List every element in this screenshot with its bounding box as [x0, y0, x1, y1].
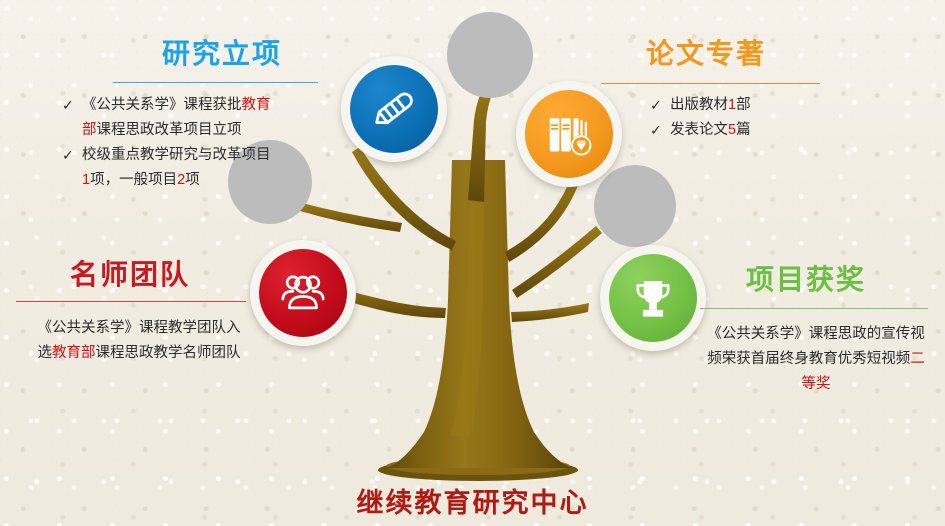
- section-rule-master-teacher-team: [16, 301, 246, 302]
- list-item: ✓ 发表论文5篇: [650, 118, 880, 143]
- paragraph-text: 《公共关系学》课程思政的宣传视频荣获首届终身教育优秀短视频二等奖: [707, 326, 925, 392]
- check-icon: ✓: [650, 118, 670, 143]
- list-item-text: 《公共关系学》课程获批教育部课程思政改革项目立项: [82, 93, 274, 143]
- section-body-master-teacher-team: 《公共关系学》课程教学团队入选教育部课程思政教学名师团队: [36, 316, 242, 366]
- section-body-papers-monographs: ✓ 出版教材1部 ✓ 发表论文5篇: [650, 93, 880, 143]
- section-body-project-awards: 《公共关系学》课程思政的宣传视频荣获首届终身教育优秀短视频二等奖: [705, 322, 927, 397]
- paragraph-text: 《公共关系学》课程教学团队入选教育部课程思政教学名师团队: [38, 320, 241, 361]
- section-rule-papers-monographs: [601, 83, 820, 84]
- section-rule-project-awards: [700, 308, 928, 309]
- page-title: 继续教育研究中心: [0, 481, 945, 520]
- list-item: ✓ 出版教材1部: [650, 93, 880, 118]
- check-icon: ✓: [62, 93, 82, 118]
- list-item-text: 校级重点教学研究与改革项目1项，一般项目2项: [82, 143, 274, 193]
- section-title-master-teacher-team: 名师团队: [70, 253, 190, 293]
- section-title-research-projects: 研究立项: [162, 32, 282, 72]
- check-icon: ✓: [650, 93, 670, 118]
- section-rule-research-projects: [113, 82, 318, 83]
- section-body-research-projects: ✓ 《公共关系学》课程获批教育部课程思政改革项目立项 ✓ 校级重点教学研究与改革…: [62, 93, 274, 193]
- check-icon: ✓: [62, 143, 82, 168]
- list-item-text: 出版教材1部: [670, 93, 880, 118]
- list-item-text: 发表论文5篇: [670, 118, 880, 143]
- list-item: ✓ 《公共关系学》课程获批教育部课程思政改革项目立项: [62, 93, 274, 143]
- content-layer: 研究立项 ✓ 《公共关系学》课程获批教育部课程思政改革项目立项 ✓ 校级重点教学…: [0, 0, 945, 526]
- list-item: ✓ 校级重点教学研究与改革项目1项，一般项目2项: [62, 143, 274, 193]
- section-title-project-awards: 项目获奖: [746, 258, 866, 298]
- section-title-papers-monographs: 论文专著: [646, 32, 766, 72]
